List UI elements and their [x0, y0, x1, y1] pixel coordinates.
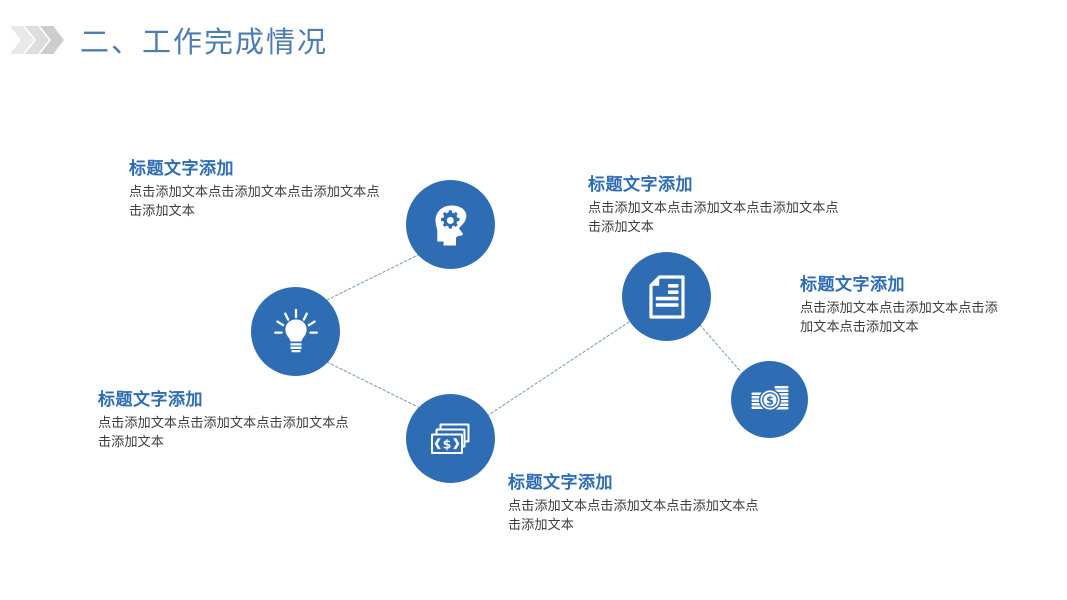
text-block-1-body: 点击添加文本点击添加文本点击添加文本点击添加文本	[129, 183, 385, 220]
double-chevron-right-icon	[10, 23, 68, 57]
text-block-3: 标题文字添加 点击添加文本点击添加文本点击添加文本点击添加文本	[800, 270, 1005, 336]
text-block-3-body: 点击添加文本点击添加文本点击添加文本点击添加文本	[800, 299, 1005, 336]
text-block-2-body: 点击添加文本点击添加文本点击添加文本点击添加文本	[588, 199, 844, 236]
text-block-3-title: 标题文字添加	[800, 270, 1005, 295]
document-icon	[643, 273, 691, 321]
svg-text:$: $	[765, 393, 773, 407]
text-block-2: 标题文字添加 点击添加文本点击添加文本点击添加文本点击添加文本	[588, 170, 844, 236]
text-block-4-title: 标题文字添加	[98, 385, 354, 410]
head-gear-icon	[426, 200, 476, 250]
text-block-2-title: 标题文字添加	[588, 170, 844, 195]
node-circle-brain[interactable]	[406, 180, 495, 269]
text-block-4-body: 点击添加文本点击添加文本点击添加文本点击添加文本	[98, 414, 354, 451]
lightbulb-icon	[270, 306, 322, 358]
text-block-1: 标题文字添加 点击添加文本点击添加文本点击添加文本点击添加文本	[129, 154, 385, 220]
text-block-4: 标题文字添加 点击添加文本点击添加文本点击添加文本点击添加文本	[98, 385, 354, 451]
node-circle-lightbulb[interactable]	[251, 287, 340, 376]
coin-stack-icon: $	[748, 378, 792, 422]
banknotes-icon: $	[426, 414, 476, 464]
connector-cash-doc	[487, 320, 632, 416]
connector-doc-coins	[700, 325, 741, 372]
slide-header: 二、工作完成情况	[0, 14, 1067, 66]
text-block-5: 标题文字添加 点击添加文本点击添加文本点击添加文本点击添加文本	[508, 468, 764, 534]
node-circle-coins[interactable]: $	[731, 361, 808, 438]
connector-bulb-brain	[327, 255, 418, 300]
svg-text:$: $	[442, 436, 451, 451]
text-block-5-body: 点击添加文本点击添加文本点击添加文本点击添加文本	[508, 497, 764, 534]
node-circle-document[interactable]	[622, 252, 711, 341]
text-block-1-title: 标题文字添加	[129, 154, 385, 179]
page-title: 二、工作完成情况	[80, 19, 328, 61]
node-circle-banknotes[interactable]: $	[406, 394, 495, 483]
text-block-5-title: 标题文字添加	[508, 468, 764, 493]
slide-canvas: 二、工作完成情况	[0, 0, 1067, 600]
